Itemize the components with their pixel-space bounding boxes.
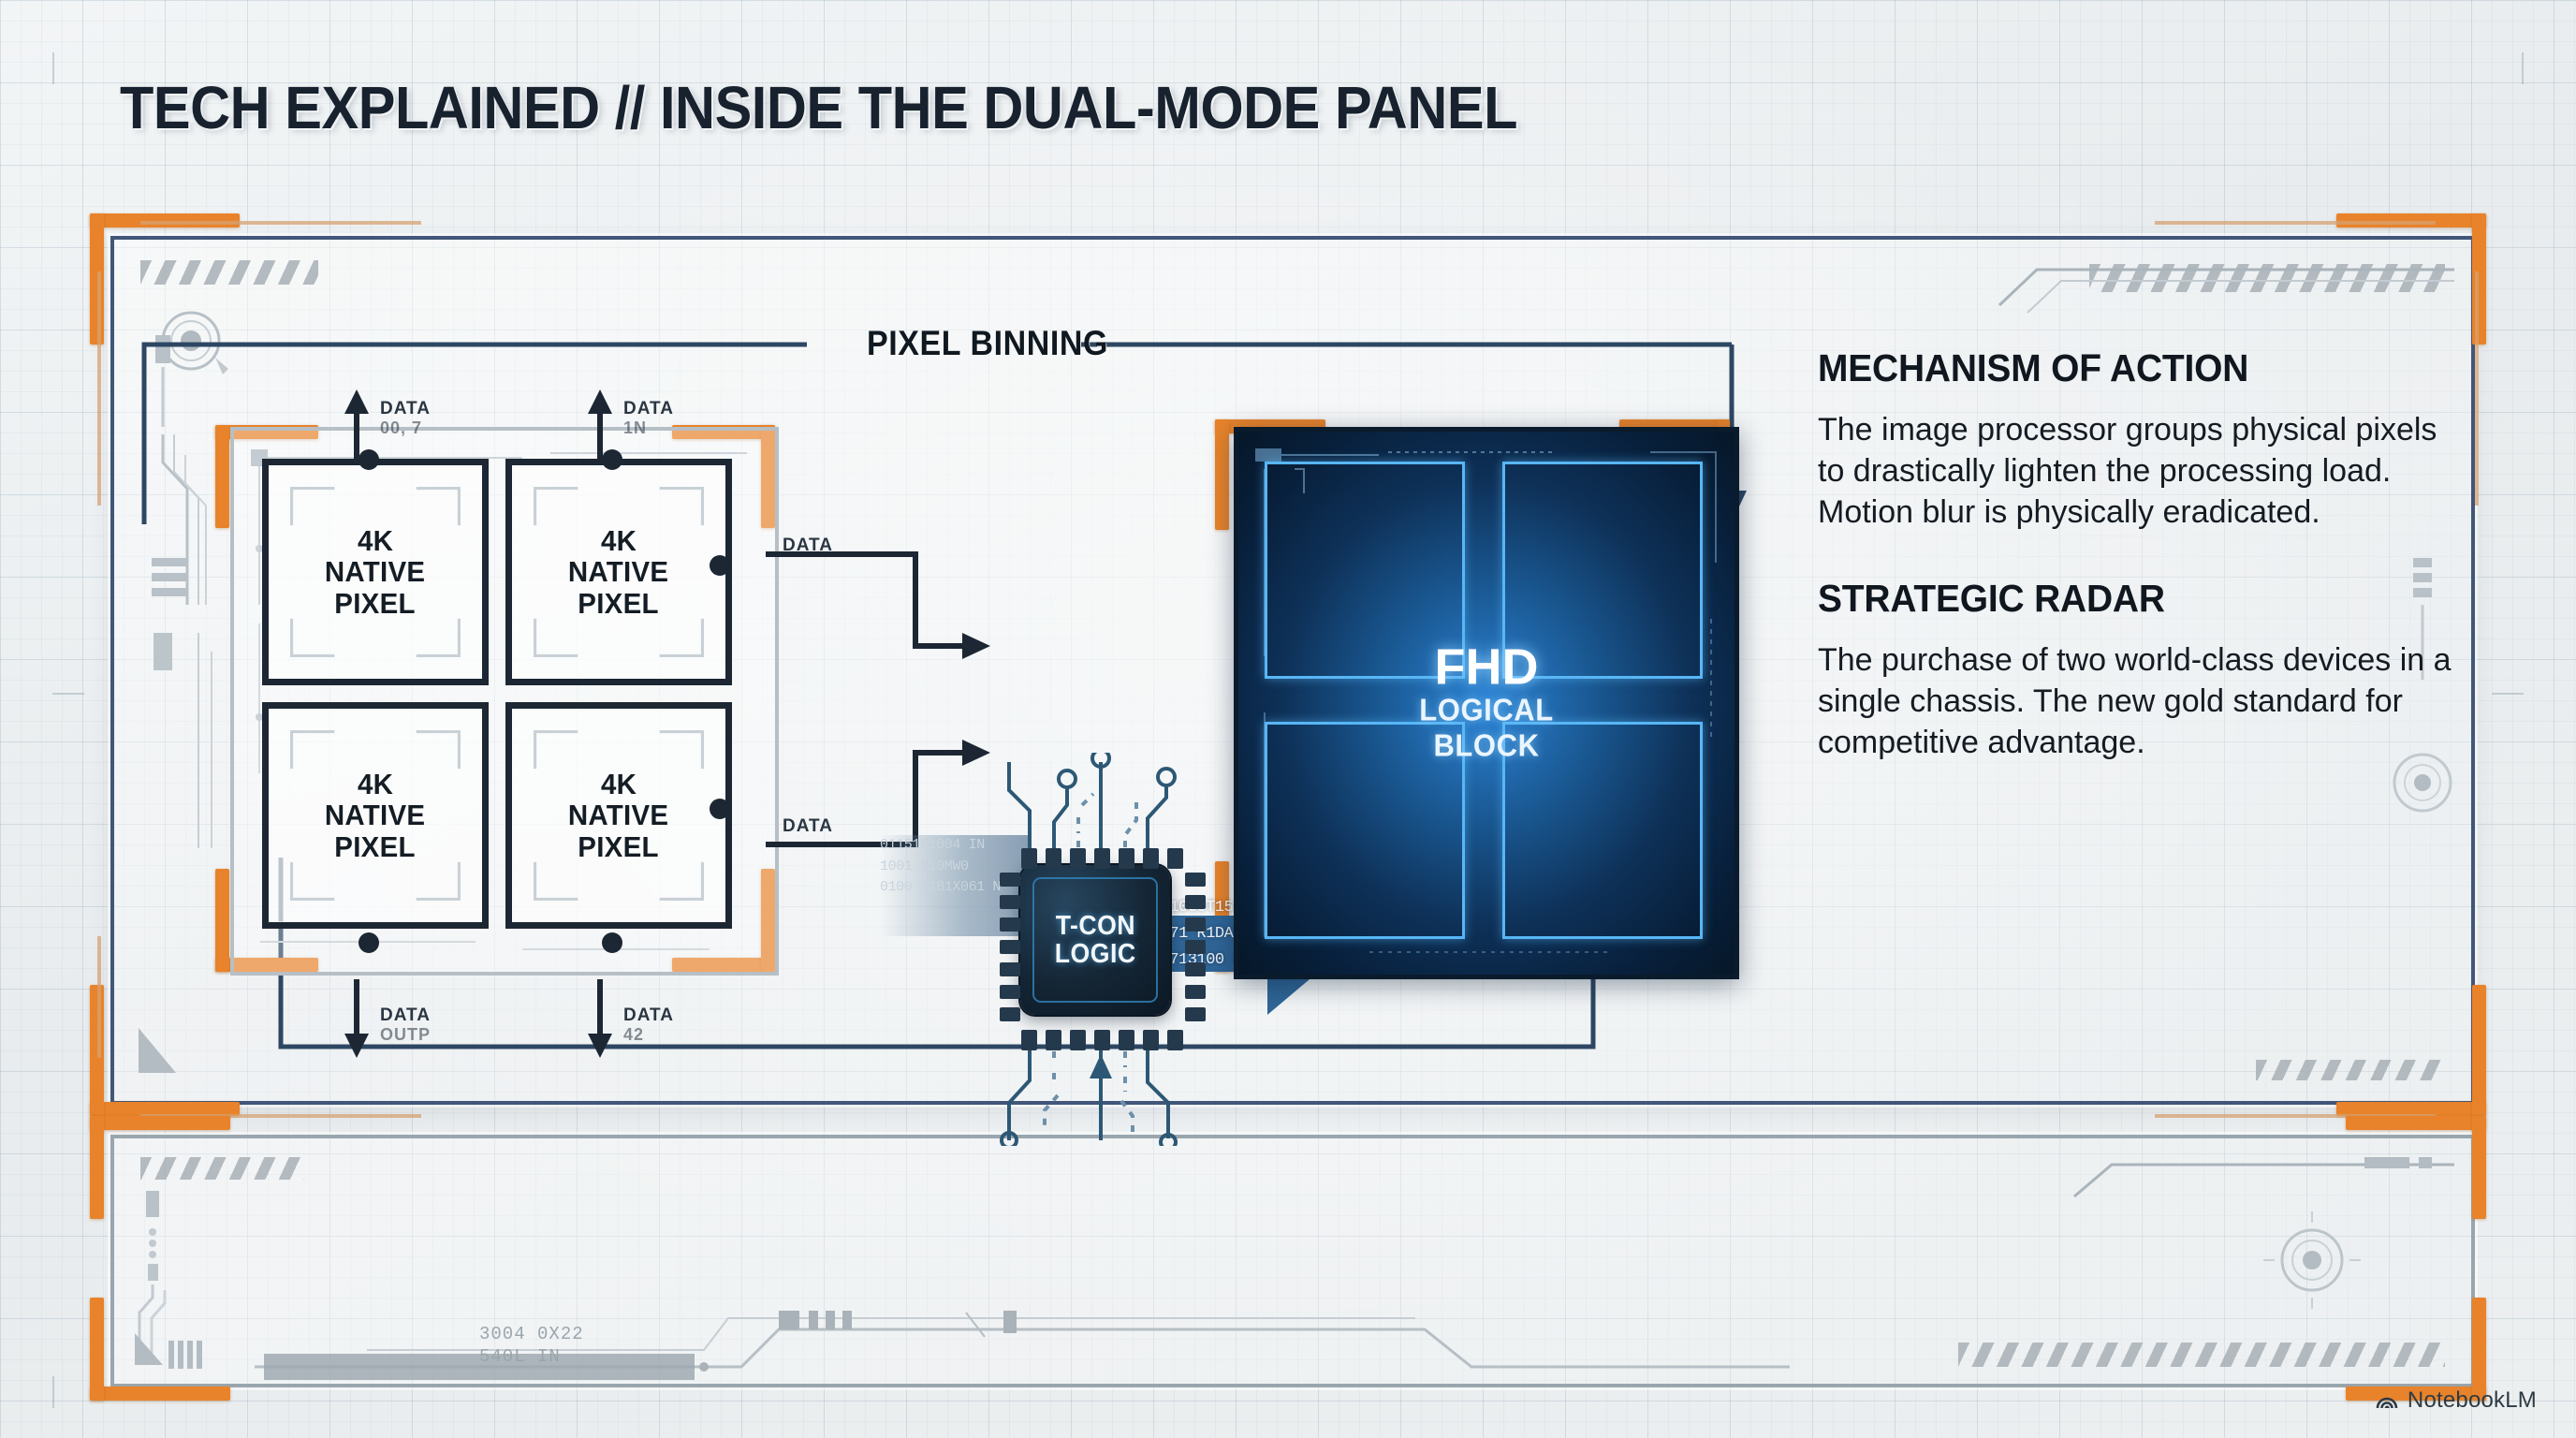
explanation-text-column: MECHANISM OF ACTION The image processor … [1818, 346, 2464, 763]
binary-line: 01151B1004 IN [880, 835, 1030, 857]
tcon-label-line2: LOGIC [1055, 940, 1136, 968]
annotation-sublabel: 42 [623, 1025, 674, 1044]
corner-wedge-bottom-left [135, 1011, 219, 1077]
hatch-stripes-bottom-panel-left [140, 1157, 304, 1180]
pixel-label-line3: PIXEL [335, 588, 417, 619]
pixel-label-line3: PIXEL [335, 831, 417, 862]
pixel-label-line1: 4K [358, 769, 393, 800]
page-title: TECH EXPLAINED // INSIDE THE DUAL-MODE P… [120, 73, 1517, 142]
bottom-panel-code-text: 3004 0X22 540L IN [479, 1323, 584, 1369]
hud-swoosh-bottom-right [2056, 1152, 2458, 1208]
margin-tick-top-right [2522, 52, 2524, 84]
tcon-label-line1: T-CON [1055, 912, 1134, 940]
annotation-label: DATA [623, 1005, 674, 1025]
annotation-data-in-top-right: DATA 1N [623, 399, 674, 437]
notebooklm-wordmark: NotebookLM [2408, 1387, 2537, 1414]
data-wire-upper-to-tcon [766, 549, 1018, 670]
annotation-sublabel: OUTP [380, 1025, 431, 1044]
section-heading-mechanism: MECHANISM OF ACTION [1818, 346, 2432, 390]
section-heading-radar: STRATEGIC RADAR [1818, 577, 2432, 621]
annotation-label: DATA [623, 399, 674, 418]
connector-node-bottom-left [359, 932, 379, 953]
annotation-data-out-top-left: DATA 00, 7 [380, 399, 431, 437]
annotation-sublabel: 00, 7 [380, 418, 431, 437]
hud-code-line: 3004 0X22 [479, 1323, 584, 1346]
pixel-label-line2: NATIVE [568, 556, 669, 587]
annotation-sublabel: 1N [623, 418, 674, 437]
pixel-label-line3: PIXEL [578, 588, 660, 619]
annotation-data-right-lower: DATA [783, 816, 833, 836]
tan-rule-top-left [140, 221, 421, 225]
section-spacer [1818, 534, 2464, 577]
binary-line: 0100 11B1X061 N [880, 877, 1030, 899]
pixel-label-line2: NATIVE [568, 800, 669, 830]
margin-tick-left-mid [52, 693, 84, 695]
fhd-block-label: FHD LOGICAL BLOCK [1238, 642, 1734, 765]
annotation-label: DATA [380, 1005, 431, 1025]
tan-rule-left-vert-2 [97, 936, 101, 1058]
bottom-panel-circuit-left [131, 1187, 281, 1371]
bottom-panel-circuit-rail [255, 1296, 1799, 1380]
pixel-label-line1: 4K [601, 525, 637, 556]
annotation-data-right-upper: DATA [783, 536, 833, 555]
section-body-radar: The purchase of two world-class devices … [1818, 639, 2464, 764]
binary-line: 1001 110MW0 [880, 857, 1030, 878]
tan-rule-left-vert [97, 271, 101, 506]
pixel-box-bottom-left: 4K NATIVE PIXEL [262, 702, 489, 929]
annotation-label: DATA [783, 536, 833, 555]
annotation-label: DATA [380, 399, 431, 418]
fhd-label-line1: FHD [1238, 642, 1734, 693]
pixel-box-top-right: 4K NATIVE PIXEL [505, 459, 732, 685]
pixel-label-line2: NATIVE [325, 556, 426, 587]
section-body-mechanism: The image processor groups physical pixe… [1818, 409, 2464, 534]
binary-stream-input: 01151B1004 IN 1001 110MW0 0100 11B1X061 … [880, 835, 1030, 936]
radar-target-icon-bottom-right [2256, 1208, 2368, 1320]
fhd-label-line2: LOGICAL [1253, 693, 1720, 728]
t-con-logic-chip: T-CON LOGIC [1020, 865, 1170, 1015]
hatch-stripes-top-right [2089, 264, 2445, 292]
pixel-binning-label: PIXEL BINNING [853, 324, 1122, 363]
fhd-label-line3: BLOCK [1253, 728, 1720, 764]
connector-node-right-lower [710, 799, 730, 819]
notebooklm-logo: NotebookLM [2375, 1387, 2537, 1414]
margin-tick-right-mid [2492, 693, 2524, 695]
notebooklm-spiral-icon [2375, 1388, 2399, 1413]
hatch-stripes-top-left [140, 260, 318, 285]
tan-rule-top-right [2155, 221, 2436, 225]
hud-code-line: 540L IN [479, 1345, 584, 1369]
fhd-logical-block: FHD LOGICAL BLOCK [1234, 427, 1739, 979]
pixel-box-bottom-right: 4K NATIVE PIXEL [505, 702, 732, 929]
pixel-box-top-left: 4K NATIVE PIXEL [262, 459, 489, 685]
pixel-label-line1: 4K [601, 769, 637, 800]
annotation-label: DATA [783, 816, 833, 836]
main-hud-panel: PIXEL BINNING [110, 236, 2475, 1105]
tan-rule-right-vert [2475, 271, 2479, 506]
margin-tick-left-bottom [52, 1376, 54, 1408]
annotation-data-out-bottom-right: DATA 42 [623, 1005, 674, 1044]
pixel-label-line3: PIXEL [578, 831, 660, 862]
arrow-data-out-bottom-right [586, 979, 614, 1058]
annotation-data-out-bottom-left: DATA OUTP [380, 1005, 431, 1044]
tan-rule-bottom-right [2155, 1114, 2436, 1118]
connector-node-bottom-right [602, 932, 622, 953]
bottom-hud-panel: 3004 0X22 540L IN [110, 1135, 2475, 1387]
connector-node-top-left [359, 449, 379, 470]
arrow-data-out-bottom-left [343, 979, 371, 1058]
hatch-stripes-bottom-right [2256, 1060, 2443, 1080]
margin-tick-left-top [52, 52, 54, 84]
tan-rule-bottom-left [140, 1114, 421, 1118]
connector-node-top-right [602, 449, 622, 470]
connector-node-right-upper [710, 555, 730, 576]
hatch-stripes-bottom-panel-right [1958, 1343, 2445, 1367]
pixel-cluster-group: 4K NATIVE PIXEL 4K NATIVE PIXEL 4K N [230, 427, 779, 976]
pixel-label-line1: 4K [358, 525, 393, 556]
pixel-label-line2: NATIVE [325, 800, 426, 830]
